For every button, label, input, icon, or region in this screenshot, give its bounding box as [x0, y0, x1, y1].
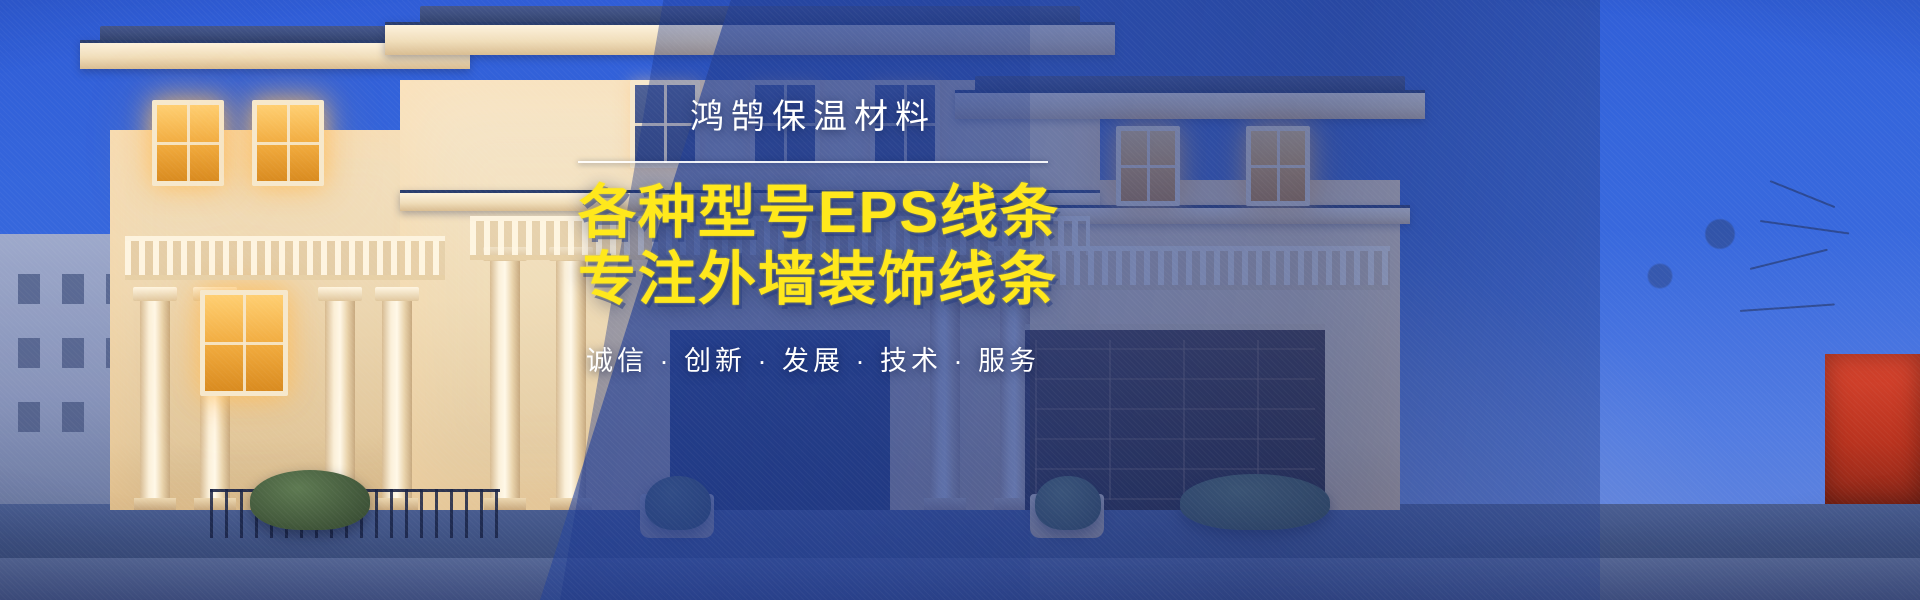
- headline-line-1: 各种型号EPS线条: [578, 179, 1048, 246]
- column: [490, 260, 520, 510]
- balustrade: [125, 236, 445, 280]
- column: [140, 300, 170, 510]
- hero-banner: 鸿鹄保温材料 各种型号EPS线条 专注外墙装饰线条 诚信 · 创新 · 发展 ·…: [0, 0, 1920, 600]
- brand-name: 鸿鹄保温材料: [578, 96, 1048, 139]
- column: [382, 300, 412, 510]
- divider-rule: [578, 161, 1048, 163]
- window-lit: [252, 100, 324, 186]
- banner-copy: 鸿鹄保温材料 各种型号EPS线条 专注外墙装饰线条 诚信 · 创新 · 发展 ·…: [578, 96, 1048, 378]
- tagline: 诚信 · 创新 · 发展 · 技术 · 服务: [578, 339, 1048, 378]
- shrub: [250, 470, 370, 530]
- bare-tree: [1600, 150, 1800, 360]
- window-lit: [152, 100, 224, 186]
- headline-line-2: 专注外墙装饰线条: [578, 246, 1048, 313]
- red-container: [1825, 354, 1920, 504]
- window-lit: [200, 290, 288, 396]
